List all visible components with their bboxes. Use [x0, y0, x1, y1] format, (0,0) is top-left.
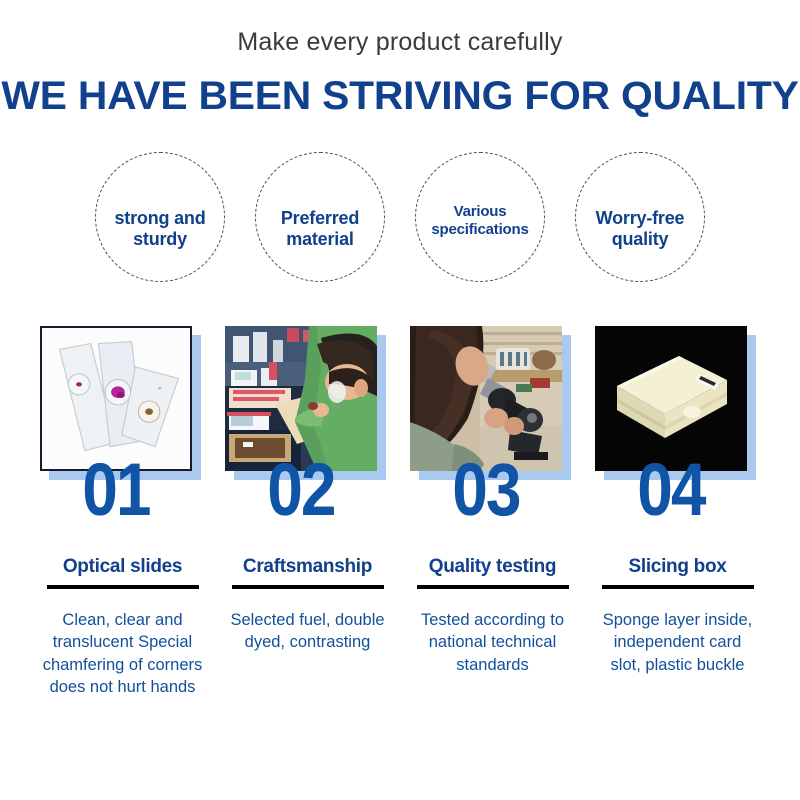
thumbnail-wrapper: 01: [40, 326, 192, 471]
product-card-quality-testing: 03 Quality testing Tested according to n…: [408, 326, 578, 676]
thumbnail-wrapper: 04: [595, 326, 747, 471]
card-number: 03: [452, 453, 519, 527]
card-divider: [232, 585, 384, 589]
feature-circle-label: Various specifications: [416, 203, 544, 238]
card-number: 02: [267, 453, 334, 527]
feature-circle-label: strong and sturdy: [96, 208, 224, 250]
page-subtitle: Make every product carefully: [0, 0, 800, 55]
feature-circle-preferred-material: Preferred material: [255, 152, 385, 282]
feature-circles-row: strong and sturdy Preferred material Var…: [0, 152, 800, 282]
card-title: Quality testing: [408, 557, 578, 576]
card-divider: [417, 585, 569, 589]
feature-circle-label-line1: Various: [416, 203, 544, 221]
card-description: Tested according to national technical s…: [408, 609, 578, 676]
feature-circle-worry-free-quality: Worry-free quality: [575, 152, 705, 282]
product-card-slicing-box: 04 Slicing box Sponge layer inside, inde…: [593, 326, 763, 676]
card-number: 01: [82, 453, 149, 527]
page-title: WE HAVE BEEN STRIVING FOR QUALITY: [0, 76, 800, 116]
feature-circle-label-line1: Worry-free: [576, 208, 704, 229]
card-title: Craftsmanship: [223, 557, 393, 576]
feature-circle-label-line2: specifications: [416, 221, 544, 239]
feature-circle-label-line1: strong and: [96, 208, 224, 229]
product-card-craftsmanship: 02 Craftsmanship Selected fuel, double d…: [223, 326, 393, 654]
feature-circle-label-line2: material: [256, 229, 384, 250]
product-card-optical-slides: 01 Optical slides Clean, clear and trans…: [38, 326, 208, 698]
feature-circle-strong-and-sturdy: strong and sturdy: [95, 152, 225, 282]
card-divider: [47, 585, 199, 589]
feature-circle-label: Worry-free quality: [576, 208, 704, 250]
feature-circle-various-specifications: Various specifications: [415, 152, 545, 282]
feature-circle-label: Preferred material: [256, 208, 384, 250]
card-divider: [602, 585, 754, 589]
card-title: Slicing box: [593, 557, 763, 576]
card-title: Optical slides: [38, 557, 208, 576]
feature-circle-label-line2: sturdy: [96, 229, 224, 250]
thumbnail-wrapper: 02: [225, 326, 377, 471]
card-number: 04: [637, 453, 704, 527]
product-cards-row: 01 Optical slides Clean, clear and trans…: [0, 326, 800, 698]
card-description: Clean, clear and translucent Special cha…: [38, 609, 208, 698]
feature-circle-label-line2: quality: [576, 229, 704, 250]
feature-circle-label-line1: Preferred: [256, 208, 384, 229]
thumbnail-wrapper: 03: [410, 326, 562, 471]
card-description: Sponge layer inside, independent card sl…: [593, 609, 763, 676]
card-description: Selected fuel, double dyed, contrasting: [223, 609, 393, 654]
